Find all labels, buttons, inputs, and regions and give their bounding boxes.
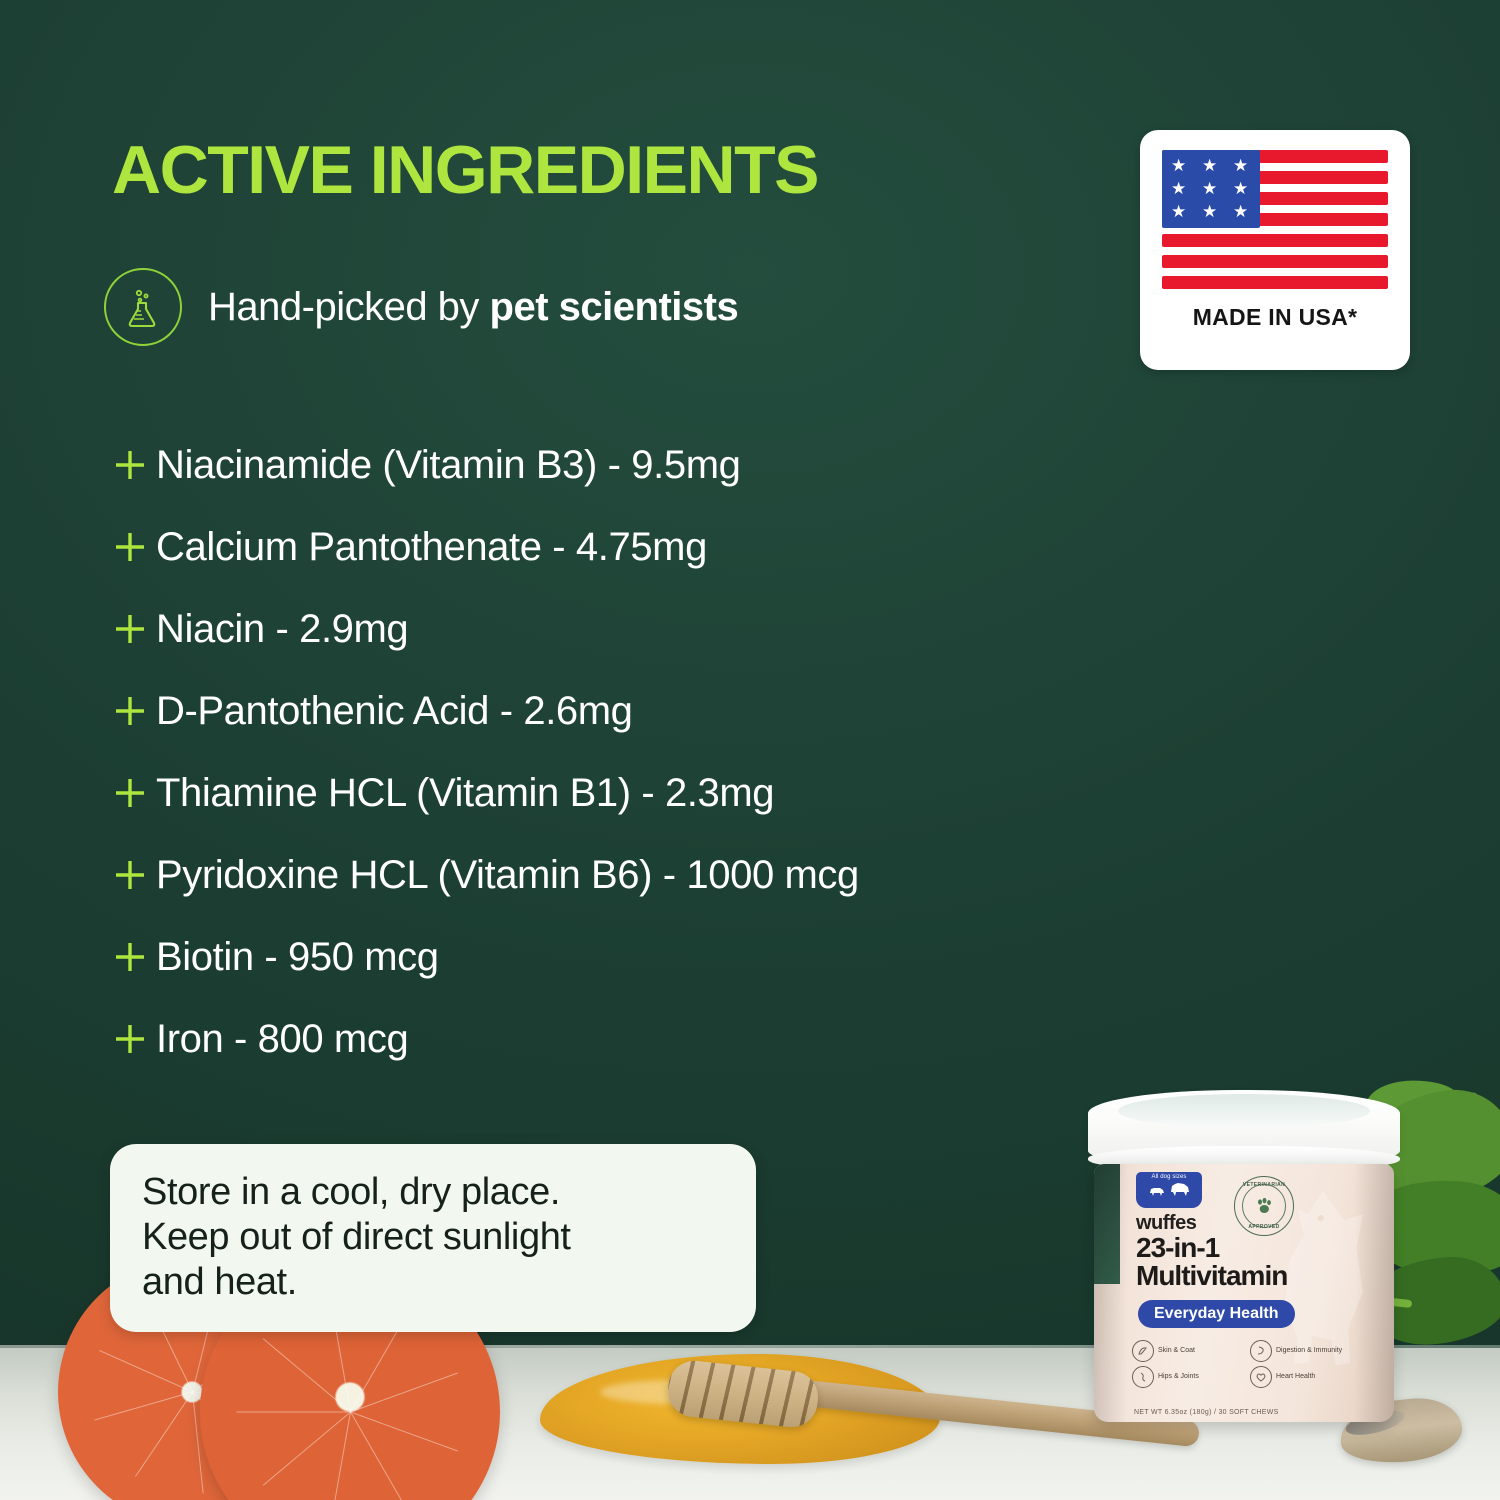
digestion-icon (1250, 1340, 1272, 1362)
hips-joints-icon (1132, 1366, 1154, 1388)
subtitle-row: Hand-picked by pet scientists (104, 268, 738, 346)
dog-silhouettes (1149, 1182, 1190, 1197)
flask-icon (104, 268, 182, 346)
benefit-list: Skin & Coat Digestion & Immunity Hips & … (1132, 1340, 1360, 1388)
product-marketing-image: All dog sizes VETERINARIAN APPROVED (0, 0, 1500, 1500)
jar-label: All dog sizes VETERINARIAN APPROVED (1094, 1164, 1394, 1422)
net-weight-text: NET WT 6.35oz (180g) / 30 SOFT CHEWS (1134, 1409, 1279, 1416)
ingredient-row: Calcium Pantothenate - 4.75mg (104, 506, 1104, 588)
ingredient-text: D-Pantothenic Acid - 2.6mg (156, 689, 633, 734)
everyday-health-pill: Everyday Health (1138, 1300, 1295, 1328)
callout-line-1: Store in a cool, dry place. (142, 1170, 724, 1215)
vet-seal-top-text: VETERINARIAN (1235, 1182, 1293, 1188)
storage-callout: Store in a cool, dry place. Keep out of … (110, 1144, 756, 1332)
ingredient-row: Niacinamide (Vitamin B3) - 9.5mg (104, 424, 1104, 506)
benefit-label: Skin & Coat (1158, 1347, 1195, 1354)
plus-icon (104, 612, 156, 646)
benefit-item: Skin & Coat (1132, 1340, 1242, 1362)
ingredient-row: Pyridoxine HCL (Vitamin B6) - 1000 mcg (104, 834, 1104, 916)
product-name-line2: Multivitamin (1136, 1262, 1287, 1290)
vet-seal-inner-ring (1242, 1184, 1286, 1228)
ingredient-text: Niacinamide (Vitamin B3) - 9.5mg (156, 443, 740, 488)
jar-lid-inner (1118, 1094, 1370, 1128)
subtitle-plain: Hand-picked by (208, 285, 490, 329)
small-dog-icon (1149, 1186, 1165, 1197)
product-name: 23-in-1 Multivitamin (1136, 1234, 1287, 1290)
flag-canton: ★ ★ ★ ★ ★ ★ ★ ★ ★ (1162, 150, 1260, 228)
ingredient-row: Thiamine HCL (Vitamin B1) - 2.3mg (104, 752, 1104, 834)
benefit-label: Digestion & Immunity (1276, 1347, 1342, 1354)
veterinarian-approved-seal: VETERINARIAN APPROVED (1234, 1176, 1294, 1236)
vet-seal-bottom-text: APPROVED (1235, 1224, 1293, 1230)
plus-icon (104, 776, 156, 810)
plus-icon (104, 448, 156, 482)
product-jar: All dog sizes VETERINARIAN APPROVED (1088, 1090, 1400, 1422)
ingredient-row: Biotin - 950 mcg (104, 916, 1104, 998)
plus-icon (104, 858, 156, 892)
ingredient-list: Niacinamide (Vitamin B3) - 9.5mg Calcium… (104, 424, 1104, 1080)
ingredient-row: Iron - 800 mcg (104, 998, 1104, 1080)
ingredient-text: Pyridoxine HCL (Vitamin B6) - 1000 mcg (156, 853, 859, 898)
ingredient-text: Biotin - 950 mcg (156, 935, 439, 980)
ingredient-text: Niacin - 2.9mg (156, 607, 408, 652)
subtitle-bold: pet scientists (490, 285, 739, 329)
size-badge-label: All dog sizes (1152, 1174, 1187, 1180)
made-in-usa-badge: ★ ★ ★ ★ ★ ★ ★ ★ ★ MADE IN USA* (1140, 130, 1410, 370)
heart-icon (1250, 1366, 1272, 1388)
callout-line-3: and heat. (142, 1260, 724, 1305)
product-name-line1: 23-in-1 (1136, 1234, 1287, 1262)
plus-icon (104, 940, 156, 974)
ingredient-text: Iron - 800 mcg (156, 1017, 408, 1062)
benefit-label: Hips & Joints (1158, 1373, 1199, 1380)
plus-icon (104, 530, 156, 564)
subtitle-text: Hand-picked by pet scientists (208, 285, 738, 330)
skin-coat-icon (1132, 1340, 1154, 1362)
jar-shading-left (1094, 1164, 1128, 1422)
usa-flag-icon: ★ ★ ★ ★ ★ ★ ★ ★ ★ (1162, 150, 1388, 290)
all-dog-sizes-badge: All dog sizes (1136, 1172, 1202, 1208)
benefit-item: Hips & Joints (1132, 1366, 1242, 1388)
plus-icon (104, 694, 156, 728)
ingredient-text: Thiamine HCL (Vitamin B1) - 2.3mg (156, 771, 774, 816)
ingredient-row: D-Pantothenic Acid - 2.6mg (104, 670, 1104, 752)
callout-line-2: Keep out of direct sunlight (142, 1215, 724, 1260)
benefit-item: Heart Health (1250, 1366, 1360, 1388)
ingredient-text: Calcium Pantothenate - 4.75mg (156, 525, 707, 570)
made-in-usa-label: MADE IN USA* (1193, 304, 1358, 331)
ingredient-row: Niacin - 2.9mg (104, 588, 1104, 670)
plus-icon (104, 1022, 156, 1056)
benefit-label: Heart Health (1276, 1373, 1315, 1380)
large-dog-icon (1170, 1182, 1190, 1197)
paw-icon (1254, 1196, 1274, 1216)
benefit-item: Digestion & Immunity (1250, 1340, 1360, 1362)
page-title: ACTIVE INGREDIENTS (112, 136, 818, 204)
